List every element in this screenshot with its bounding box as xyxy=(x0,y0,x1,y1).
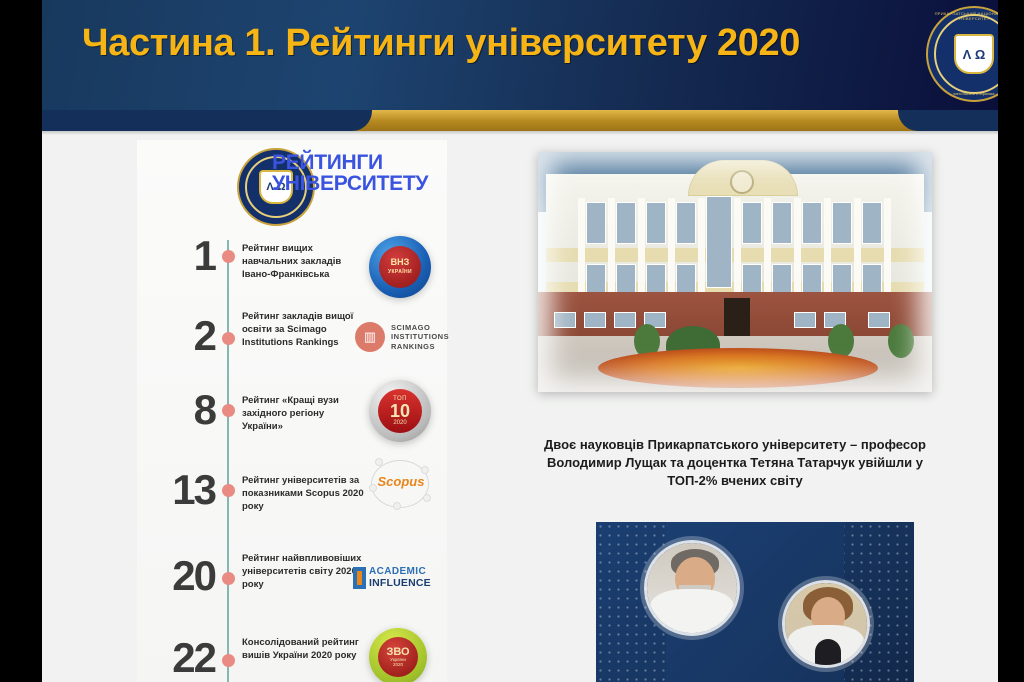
slide-header: Частина 1. Рейтинги університету 2020 ПР… xyxy=(42,0,998,112)
academic-influence-line1: ACADEMIC xyxy=(369,566,431,577)
seal-top-text: ПРИКАРПАТСЬКИЙ НАЦІОНАЛЬНИЙ УНІВЕРСИТЕТ xyxy=(928,11,998,21)
infographic-title-line2: УНІВЕРСИТЕТУ xyxy=(272,173,442,194)
letterbox-left xyxy=(0,0,42,682)
ratings-infographic: Λ Ω РЕЙТИНГИ УНІВЕРСИТЕТУ 1 Рейтинг вищи… xyxy=(137,140,447,682)
slide: Частина 1. Рейтинги університету 2020 ПР… xyxy=(0,0,1024,682)
badge-top10-year: 2020 xyxy=(393,420,406,426)
badge-top10-number: 10 xyxy=(390,402,410,420)
rank-number: 8 xyxy=(137,390,215,430)
infographic-title: РЕЙТИНГИ УНІВЕРСИТЕТУ xyxy=(272,152,442,194)
seal-shield: Λ Ω xyxy=(954,34,994,74)
scimago-line3: RANKINGS xyxy=(391,342,449,352)
rank-number: 2 xyxy=(137,316,215,356)
badge-academic-influence-icon: ACADEMIC INFLUENCE xyxy=(353,566,433,592)
rank-description: Рейтинг найвпливовіших університетів сві… xyxy=(242,552,367,591)
timeline-dot xyxy=(222,572,235,585)
rank-number: 22 xyxy=(137,638,215,678)
infographic-title-line1: РЕЙТИНГИ xyxy=(272,151,383,174)
badge-vnz-sub: УКРАЇНИ xyxy=(388,267,412,277)
badge-zvo-ukrainy-icon: ЗВО України 2020 xyxy=(369,628,427,682)
seal-bottom-text: імені Василя Стефаника xyxy=(928,92,998,96)
badge-zvo-year: 2020 xyxy=(393,663,403,668)
university-seal-icon: ПРИКАРПАТСЬКИЙ НАЦІОНАЛЬНИЙ УНІВЕРСИТЕТ … xyxy=(926,6,998,102)
portrait-male-scientist xyxy=(644,540,740,636)
badge-scopus-icon: Scopus xyxy=(363,456,437,512)
timeline-line xyxy=(227,240,229,682)
portrait-female-scientist xyxy=(782,580,870,668)
badge-top10-icon: ТОП 10 2020 xyxy=(369,380,431,442)
timeline-dot xyxy=(222,484,235,497)
badge-scimago-icon: ▥ SCIMAGO INSTITUTIONS RANKINGS xyxy=(355,322,449,352)
slide-canvas: Частина 1. Рейтинги університету 2020 ПР… xyxy=(42,0,998,682)
gold-band-notch-right xyxy=(898,110,998,131)
scimago-line2: INSTITUTIONS xyxy=(391,332,449,342)
scientists-portraits-photo xyxy=(596,522,914,682)
rank-description: Рейтинг закладів вищої освіти за Scimago… xyxy=(242,310,367,349)
rank-number: 13 xyxy=(137,470,215,510)
scientists-caption: Двоє науковців Прикарпатського університ… xyxy=(538,436,932,490)
badge-scopus-word: Scopus xyxy=(373,474,429,489)
rank-number: 20 xyxy=(137,556,215,596)
letterbox-right xyxy=(998,0,1024,682)
timeline-dot xyxy=(222,332,235,345)
academic-influence-line2: INFLUENCE xyxy=(369,577,431,589)
timeline-dot xyxy=(222,250,235,263)
gold-band-notch-left xyxy=(42,110,372,131)
timeline-dot xyxy=(222,404,235,417)
rank-number: 1 xyxy=(137,236,215,276)
band-shadow xyxy=(42,131,998,135)
badge-vnz-ukrainy-icon: ВНЗ УКРАЇНИ xyxy=(369,236,431,298)
rank-description: Рейтинг «Кращі вузи західного регіону Ук… xyxy=(242,394,367,433)
rank-description: Консолідований рейтинг вишів України 202… xyxy=(242,636,367,662)
badge-scimago-text: SCIMAGO INSTITUTIONS RANKINGS xyxy=(391,323,449,352)
university-building-photo xyxy=(538,152,932,392)
scimago-line1: SCIMAGO xyxy=(391,323,449,333)
rank-description: Рейтинг університетів за показниками Sco… xyxy=(242,474,367,513)
rank-description: Рейтинг вищих навчальних закладів Івано-… xyxy=(242,242,367,281)
scimago-mark-icon: ▥ xyxy=(355,322,385,352)
page-title: Частина 1. Рейтинги університету 2020 xyxy=(82,22,892,65)
badge-vnz-main: ВНЗ xyxy=(391,257,410,267)
timeline-dot xyxy=(222,654,235,667)
academic-influence-mark-icon xyxy=(353,567,366,589)
